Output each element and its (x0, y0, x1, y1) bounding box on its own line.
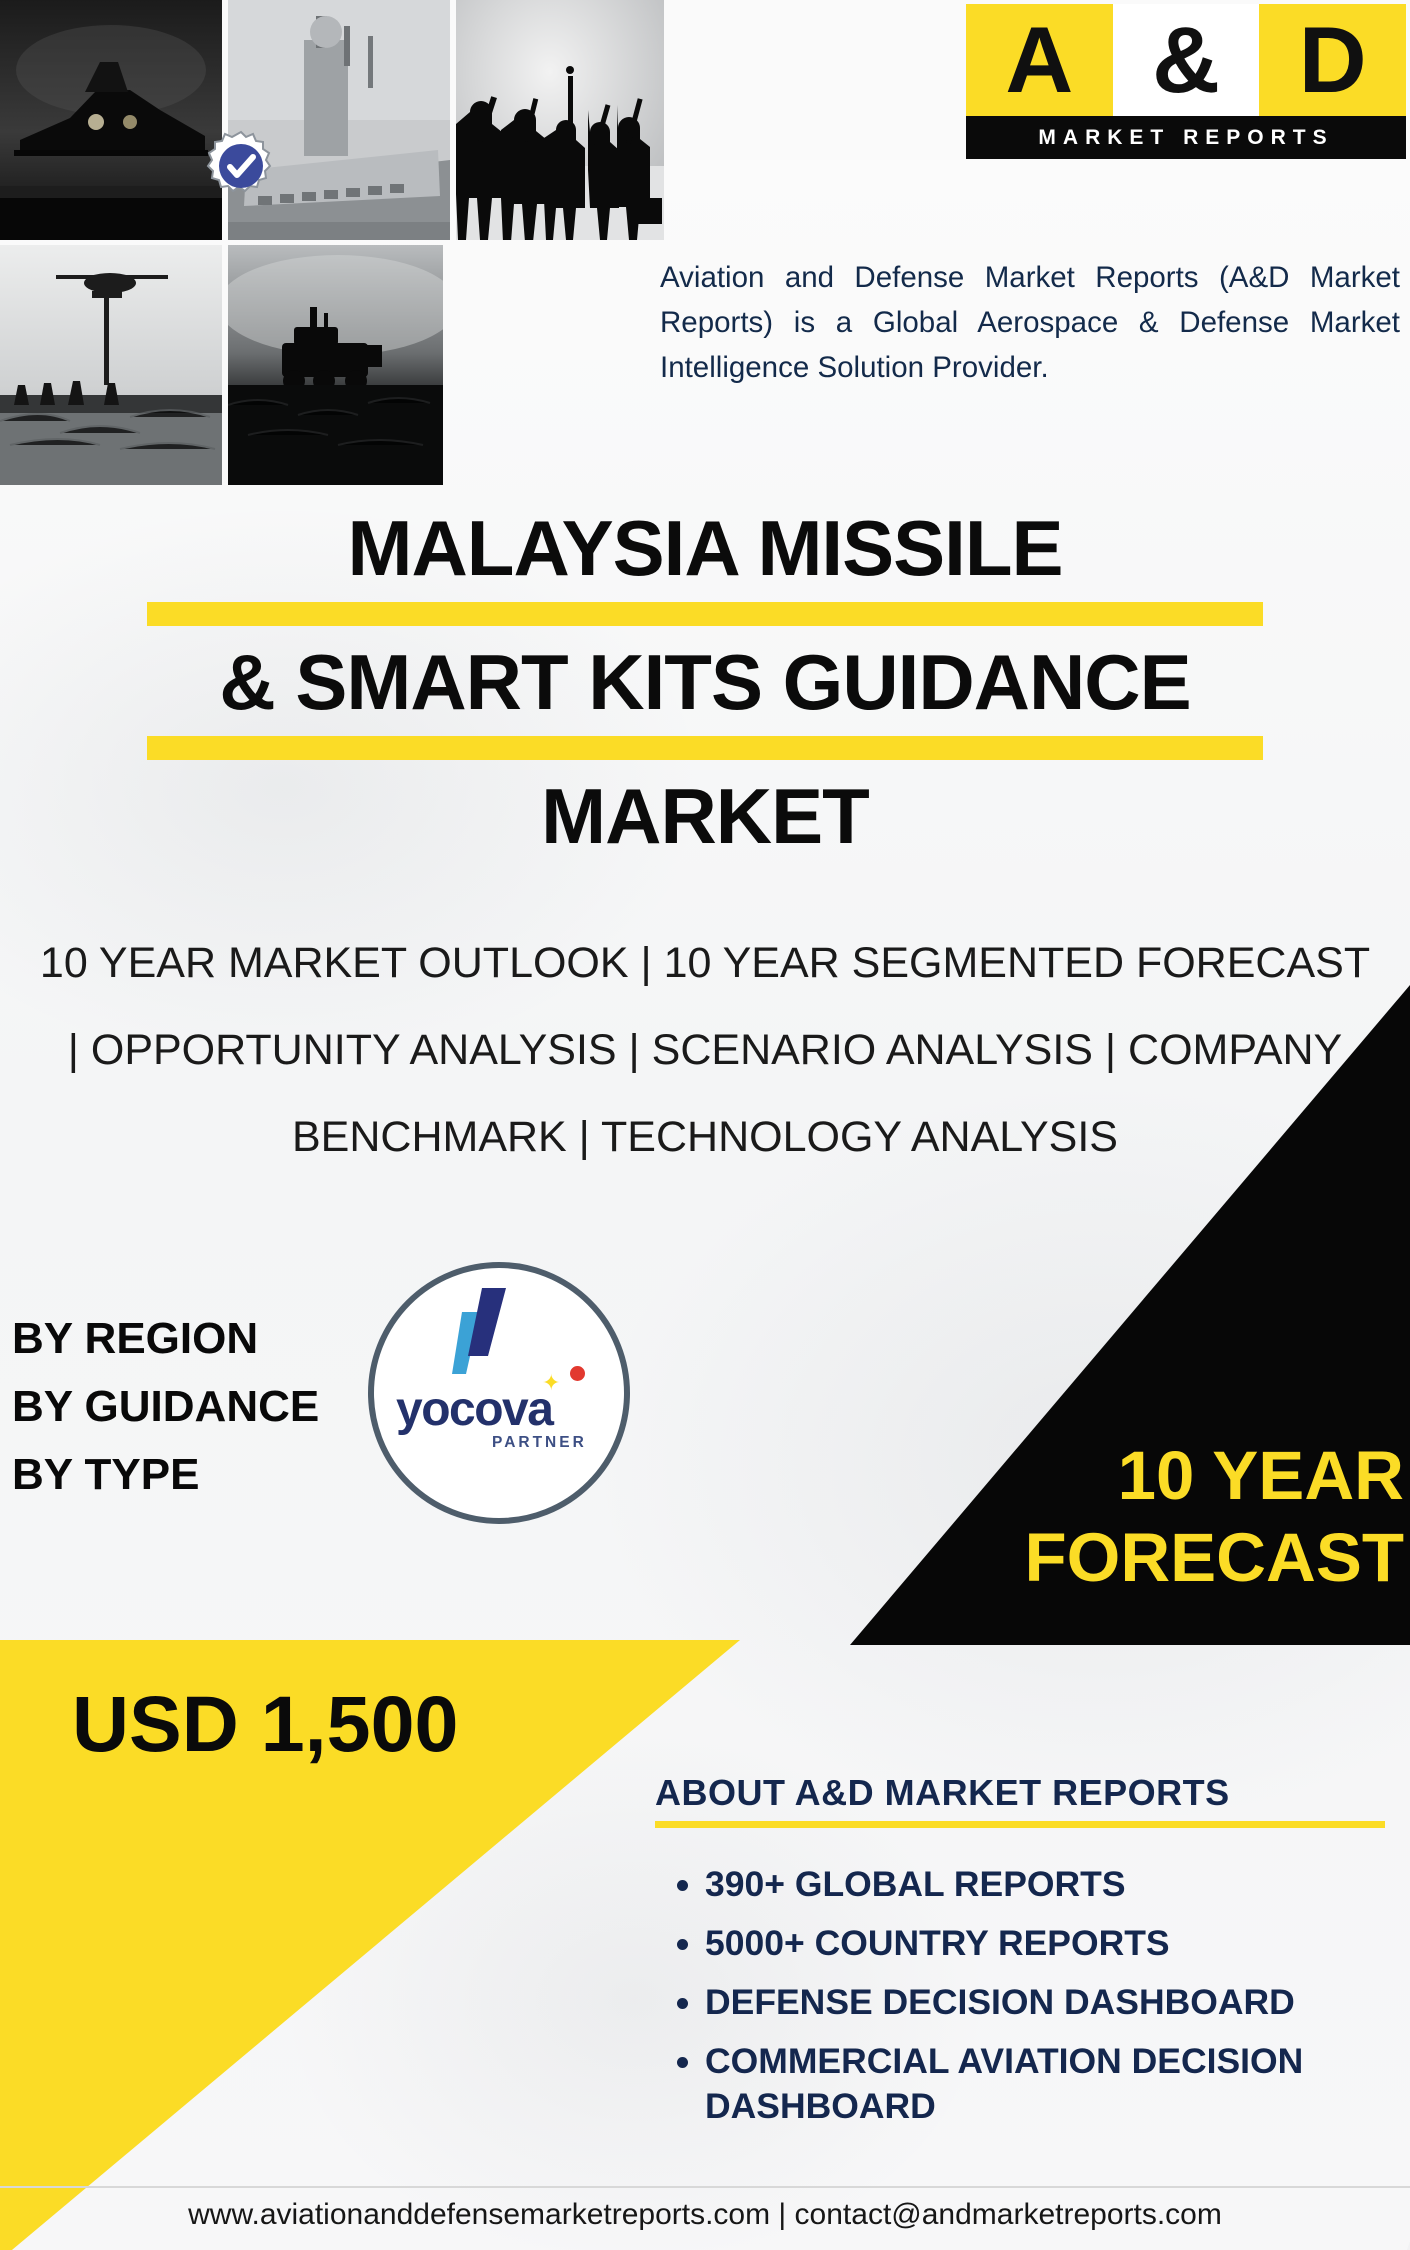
report-title: MALAYSIA MISSILE & SMART KITS GUIDANCE M… (0, 500, 1410, 864)
about-heading-underline (655, 1821, 1385, 1828)
intro-paragraph: Aviation and Defense Market Reports (A&D… (660, 255, 1400, 390)
yocova-partner-badge: yocova PARTNER ✦ (368, 1262, 630, 1524)
about-list-item: DEFENSE DECISION DASHBOARD (705, 1980, 1395, 2025)
segment-item-region: BY REGION (12, 1305, 319, 1373)
soldiers-silhouette-photo (456, 0, 664, 240)
footer-divider (0, 2186, 1410, 2188)
report-subtitle: 10 YEAR MARKET OUTLOOK | 10 YEAR SEGMENT… (30, 920, 1380, 1181)
helicopter-rappel-photo (0, 245, 222, 485)
title-line-3: MARKET (0, 768, 1410, 864)
forecast-line-1: 10 YEAR (874, 1435, 1404, 1517)
footer-contact[interactable]: www.aviationanddefensemarketreports.com … (0, 2198, 1410, 2232)
sparkle-icon: ✦ (542, 1372, 560, 1394)
segment-item-type: BY TYPE (12, 1441, 319, 1509)
title-line-2: & SMART KITS GUIDANCE (0, 634, 1410, 730)
aircraft-carrier-photo (228, 0, 450, 240)
fighter-jet-photo (0, 0, 222, 240)
about-section: ABOUT A&D MARKET REPORTS 390+ GLOBAL REP… (655, 1772, 1395, 2143)
about-list-item: 5000+ COUNTRY REPORTS (705, 1921, 1395, 1966)
logo-letter-a: A (966, 4, 1113, 116)
segment-item-guidance: BY GUIDANCE (12, 1373, 319, 1441)
title-rule-top (147, 602, 1263, 626)
forecast-callout: 10 YEAR FORECAST (874, 1435, 1404, 1599)
logo-letter-d: D (1259, 4, 1406, 116)
logo-tagline: MARKET REPORTS (966, 116, 1406, 159)
about-heading: ABOUT A&D MARKET REPORTS (655, 1772, 1395, 1814)
logo-ampersand: & (1113, 4, 1260, 116)
title-line-1: MALAYSIA MISSILE (0, 500, 1410, 596)
report-poster: A & D MARKET REPORTS Aviation and Defens… (0, 0, 1410, 2250)
armored-vehicle-photo (228, 245, 443, 485)
price-label: USD 1,500 (72, 1678, 458, 1770)
red-dot-icon (570, 1366, 585, 1381)
segmentation-list: BY REGION BY GUIDANCE BY TYPE (12, 1305, 319, 1509)
about-list-item: COMMERCIAL AVIATION DECISION DASHBOARD (705, 2039, 1395, 2129)
yocova-partner-label: PARTNER (492, 1434, 587, 1452)
logo-letters: A & D (966, 4, 1406, 116)
about-bullet-list: 390+ GLOBAL REPORTS 5000+ COUNTRY REPORT… (655, 1862, 1395, 2129)
yocova-mark-icon (432, 1286, 524, 1379)
yocova-wordmark: yocova (396, 1386, 596, 1434)
brand-logo: A & D MARKET REPORTS (966, 4, 1406, 159)
verified-check-badge-icon (205, 130, 277, 202)
forecast-line-2: FORECAST (874, 1517, 1404, 1599)
about-list-item: 390+ GLOBAL REPORTS (705, 1862, 1395, 1907)
title-rule-bottom (147, 736, 1263, 760)
